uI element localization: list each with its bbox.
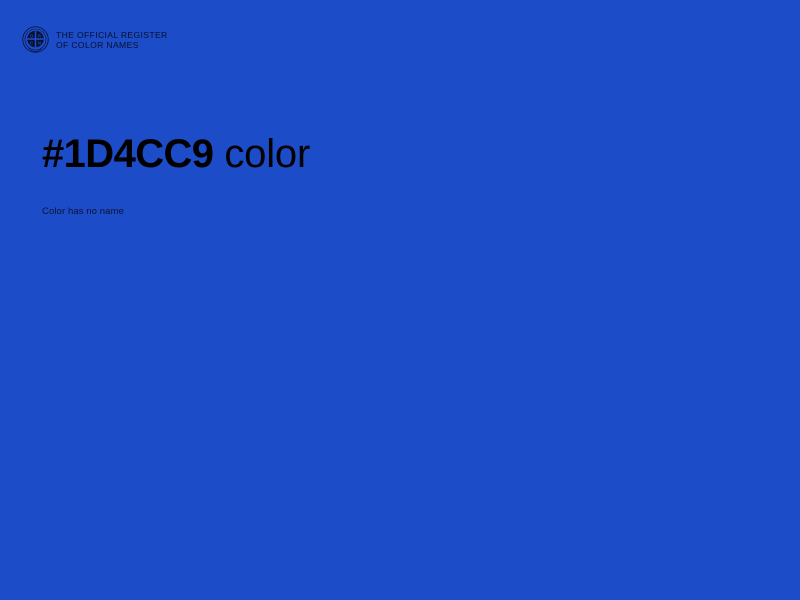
- brand-lockup[interactable]: O R C N THE OFFICIAL REGISTER OF COLOR N…: [22, 26, 168, 53]
- page-title-suffix: color: [213, 132, 310, 176]
- color-page: O R C N THE OFFICIAL REGISTER OF COLOR N…: [0, 0, 800, 600]
- svg-text:C: C: [30, 41, 33, 46]
- brand-wordmark: THE OFFICIAL REGISTER OF COLOR NAMES: [56, 29, 168, 50]
- brand-wordmark-line-2: OF COLOR NAMES: [56, 40, 168, 50]
- page-title: #1D4CC9 color: [42, 128, 742, 180]
- color-hex-value: #1D4CC9: [42, 132, 213, 176]
- brand-wordmark-line-1: THE OFFICIAL REGISTER: [56, 30, 168, 40]
- svg-text:N: N: [38, 41, 41, 46]
- color-name-status: Color has no name: [42, 180, 742, 219]
- register-seal-icon: O R C N: [22, 26, 49, 53]
- svg-text:R: R: [38, 34, 41, 39]
- color-detail: #1D4CC9 color Color has no name: [42, 128, 742, 219]
